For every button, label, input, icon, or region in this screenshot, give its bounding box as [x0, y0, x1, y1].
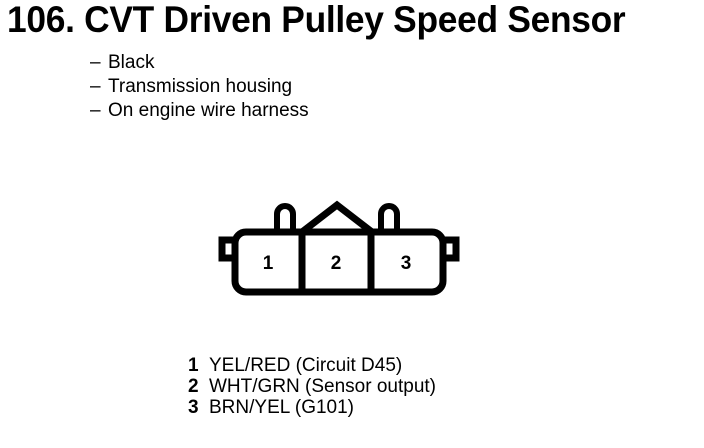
- cavity-number-3: 3: [401, 253, 412, 274]
- list-item: – Transmission housing: [90, 75, 510, 99]
- connector-tab-right-icon: [381, 206, 397, 232]
- list-item: 1 YEL/RED (Circuit D45): [188, 355, 618, 376]
- connector-tab-left-icon: [277, 206, 293, 232]
- pin-legend: 1 YEL/RED (Circuit D45) 2 WHT/GRN (Senso…: [188, 355, 618, 418]
- pin-description: YEL/RED (Circuit D45): [209, 355, 402, 376]
- pin-number: 3: [188, 397, 209, 418]
- connector-diagram: 1 2 3: [210, 196, 470, 302]
- pin-number: 1: [188, 355, 209, 376]
- list-item: 3 BRN/YEL (G101): [188, 397, 618, 418]
- list-item: 2 WHT/GRN (Sensor output): [188, 376, 618, 397]
- dash-bullet-icon: –: [90, 75, 108, 99]
- dash-bullet-icon: –: [90, 51, 108, 75]
- pin-number: 2: [188, 376, 209, 397]
- connector-locking-ridge-icon: [302, 205, 372, 232]
- list-item-label: Black: [108, 51, 154, 75]
- page-title: 106. CVT Driven Pulley Speed Sensor: [7, 0, 673, 40]
- cavity-number-1: 1: [263, 253, 274, 274]
- connector-attribute-list: – Black – Transmission housing – On engi…: [90, 51, 510, 123]
- dash-bullet-icon: –: [90, 99, 108, 123]
- list-item-label: Transmission housing: [108, 75, 292, 99]
- pin-description: BRN/YEL (G101): [209, 397, 354, 418]
- list-item-label: On engine wire harness: [108, 99, 309, 123]
- pin-description: WHT/GRN (Sensor output): [209, 376, 436, 397]
- list-item: – On engine wire harness: [90, 99, 510, 123]
- cavity-number-2: 2: [331, 253, 342, 274]
- list-item: – Black: [90, 51, 510, 75]
